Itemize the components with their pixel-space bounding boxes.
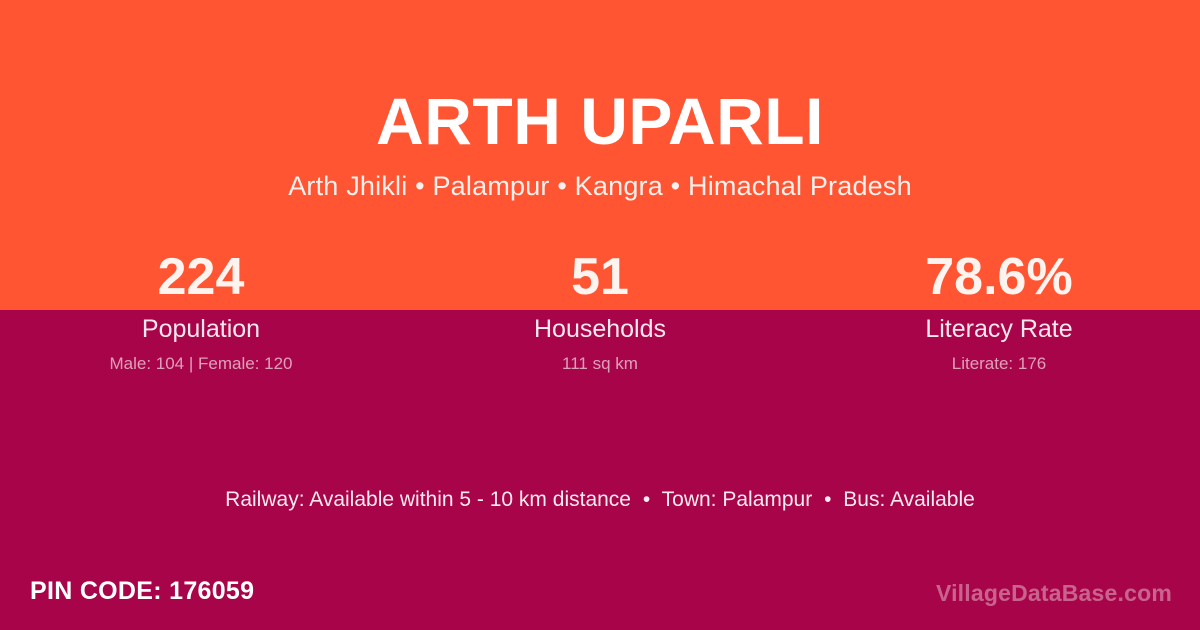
stat-value: 78.6% [799,246,1199,310]
card-header: ARTH UPARLI Arth Jhikli • Palampur • Kan… [0,0,1200,203]
amenity-separator-icon: • [637,488,656,511]
stat-sublabel: 111 sq km [400,344,800,374]
amenity-bus: Bus: Available [843,488,975,511]
amenity-separator-icon: • [818,488,837,511]
stat-label: Population [1,310,401,344]
pin-code: PIN CODE: 176059 [30,576,254,606]
page-title: ARTH UPARLI [0,0,1200,158]
amenity-railway: Railway: Available within 5 - 10 km dist… [225,488,631,511]
stat-sublabel: Male: 104 | Female: 120 [1,344,401,374]
stat-population: 224 Population Male: 104 | Female: 120 [1,246,401,386]
stat-label: Households [400,310,800,344]
stat-literacy-rate: 78.6% Literacy Rate Literate: 176 [799,246,1199,386]
breadcrumb: Arth Jhikli • Palampur • Kangra • Himach… [0,158,1200,203]
stat-households: 51 Households 111 sq km [400,246,800,386]
stat-value: 51 [400,246,800,310]
stat-label: Literacy Rate [799,310,1199,344]
site-watermark: VillageDataBase.com [936,579,1172,607]
stat-value: 224 [1,246,401,310]
stat-sublabel: Literate: 176 [799,344,1199,374]
village-info-card: ARTH UPARLI Arth Jhikli • Palampur • Kan… [0,0,1200,630]
amenity-town: Town: Palampur [662,488,813,511]
amenities-line: Railway: Available within 5 - 10 km dist… [0,486,1200,514]
stats-row: 224 Population Male: 104 | Female: 120 5… [0,246,1200,386]
